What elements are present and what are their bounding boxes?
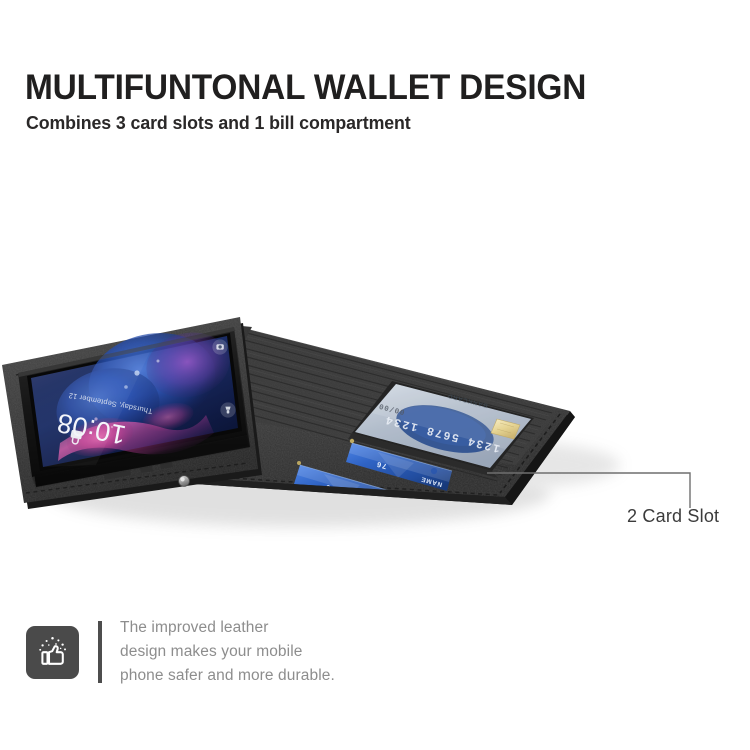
feature-block: The improved leather design makes your m… [26, 616, 335, 688]
page-subtitle: Combines 3 card slots and 1 bill compart… [26, 112, 411, 134]
feature-line-2: design makes your mobile [120, 640, 335, 664]
thumbs-up-icon [26, 626, 79, 679]
product-marketing-image: MULTIFUNTONAL WALLET DESIGN Combines 3 c… [0, 0, 750, 750]
feature-line-3: phone safer and more durable. [120, 664, 335, 688]
feature-divider [98, 621, 102, 683]
feature-description: The improved leather design makes your m… [120, 616, 335, 688]
callout-label-card-slot: 2 Card Slot [627, 505, 719, 527]
feature-line-1: The improved leather [120, 616, 335, 640]
page-title: MULTIFUNTONAL WALLET DESIGN [25, 69, 586, 107]
snap-rivet [179, 476, 190, 487]
